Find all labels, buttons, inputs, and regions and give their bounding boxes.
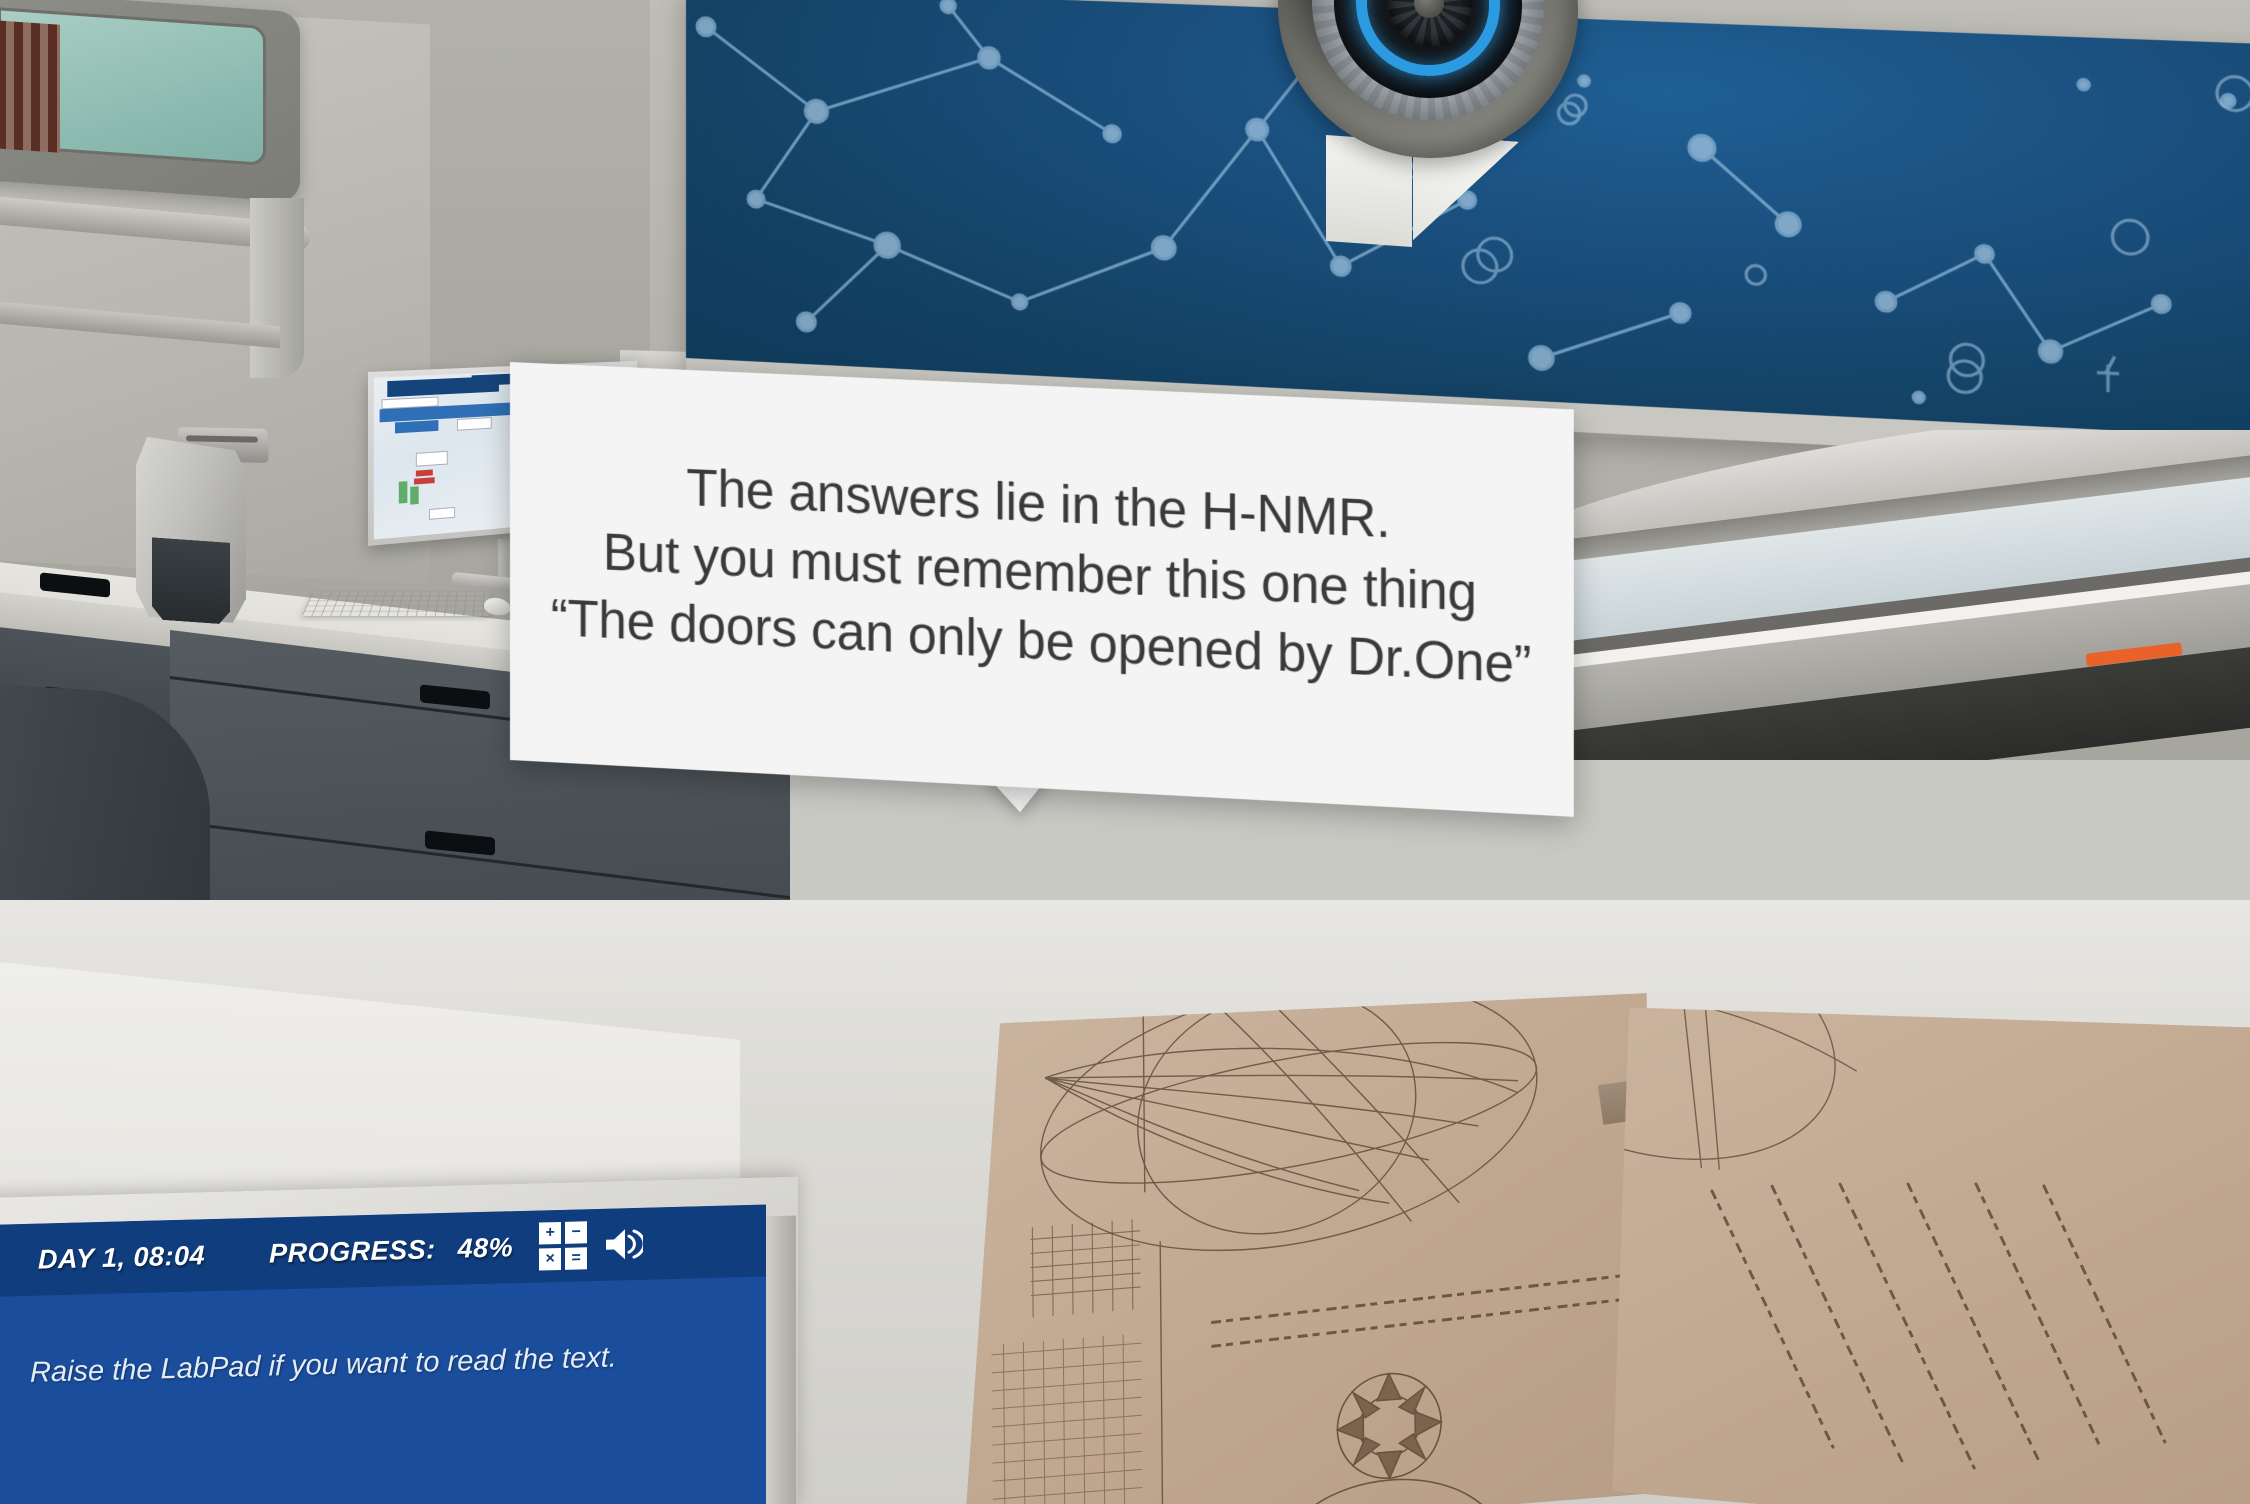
dialog-speech-bubble[interactable]: The answers lie in the H-NMR. But you mu… [510,362,1550,760]
progress-label: PROGRESS: [269,1234,436,1269]
day-time-label: DAY 1, 08:04 [38,1240,205,1275]
labpad[interactable]: DAY 1, 08:04 PROGRESS: 48% + − × = [0,1198,816,1504]
notebook-left-page [959,972,1651,1504]
wall-pipe-vertical [250,198,304,378]
labpad-screen[interactable]: DAY 1, 08:04 PROGRESS: 48% + − × = [0,1205,766,1504]
notebook-right-page [1612,971,2250,1504]
progress-value: 48% [458,1232,514,1264]
antique-manuscript-notebook[interactable] [960,1000,2250,1504]
keyboard[interactable] [301,592,491,617]
calc-key-times: × [539,1248,561,1271]
calc-key-equals: = [565,1247,587,1270]
pc-vent-slot [186,435,258,442]
pc-tower-base [152,537,230,624]
labpad-right-bezel [762,1216,796,1504]
speaker-icon[interactable] [603,1226,643,1263]
labpad-icon-group: + − × = [539,1220,643,1271]
calc-key-plus: + [539,1222,561,1245]
labpad-body: Raise the LabPad if you want to read the… [0,1277,766,1504]
lab-scene: The answers lie in the H-NMR. But you mu… [0,0,2250,1504]
calculator-icon[interactable]: + − × = [539,1221,587,1270]
labpad-hint-text: Raise the LabPad if you want to read the… [30,1332,722,1396]
calc-key-minus: − [565,1221,587,1244]
cabinet-side-strips [0,19,60,153]
lab-centrifuge-machine [1480,430,2250,760]
